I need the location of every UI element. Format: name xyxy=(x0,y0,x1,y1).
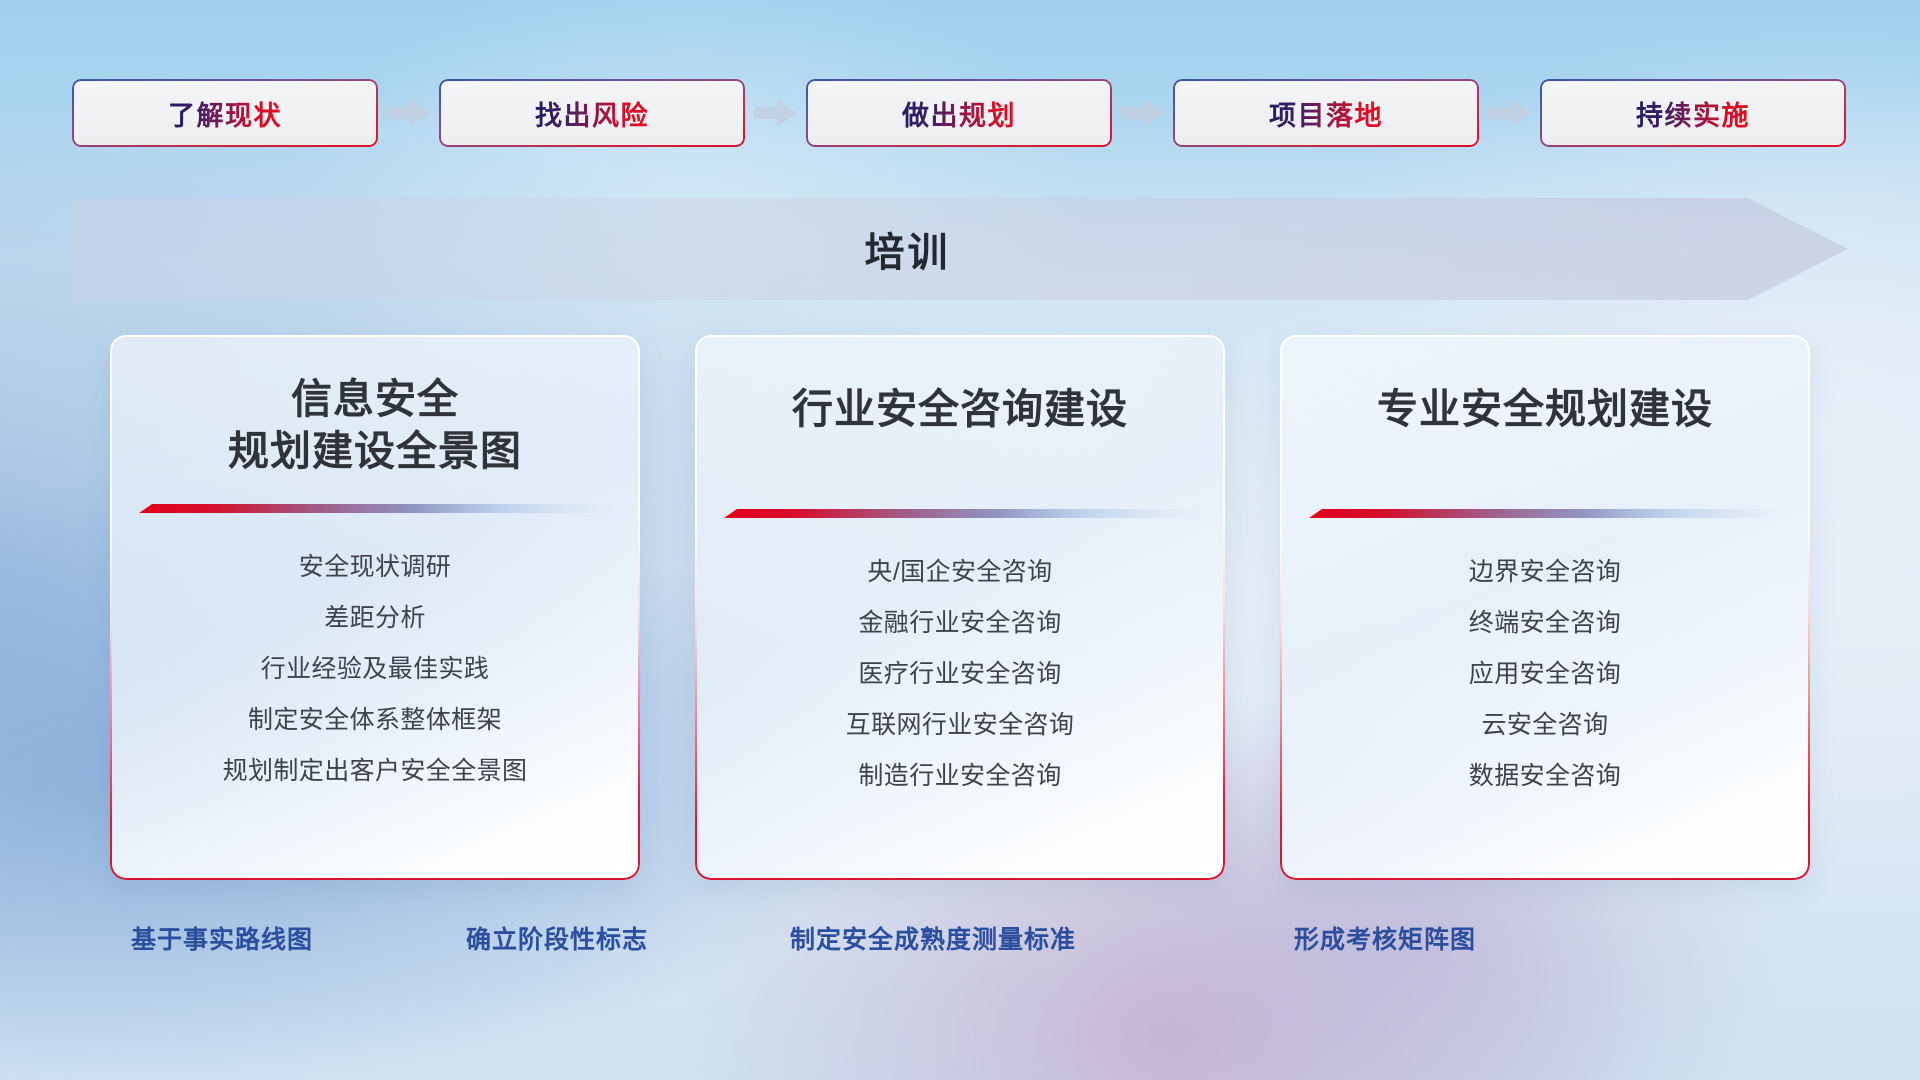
right-arrow-icon xyxy=(1479,93,1540,133)
card-information-security-blueprint[interactable]: 信息安全 规划建设全景图 xyxy=(110,335,640,880)
footer-caption-row: 基于事实路线图 确立阶段性标志 制定安全成熟度测量标准 形成考核矩阵图 xyxy=(0,920,1920,962)
list-item: 安全现状调研 xyxy=(136,555,614,580)
list-item: 制造行业安全咨询 xyxy=(721,764,1199,789)
step-wrap-1: 找出风险 xyxy=(439,79,806,147)
step-wrap-0: 了解现状 xyxy=(72,79,439,147)
process-step-flow: 了解现状 找出风险 做出规划 xyxy=(72,78,1848,148)
list-item: 应用安全咨询 xyxy=(1306,662,1784,687)
list-item: 央/国企安全咨询 xyxy=(721,560,1199,585)
card-industry-security-consulting[interactable]: 行业安全咨询建设 xyxy=(695,335,1225,880)
list-item: 制定安全体系整体框架 xyxy=(136,708,614,733)
right-arrow-icon xyxy=(745,93,806,133)
list-item: 差距分析 xyxy=(136,606,614,631)
card-item-list: 安全现状调研 差距分析 行业经验及最佳实践 制定安全体系整体框架 规划制定出客户… xyxy=(136,527,614,784)
list-item: 规划制定出客户安全全景图 xyxy=(136,759,614,784)
right-arrow-icon xyxy=(378,93,439,133)
card-title: 行业安全咨询建设 xyxy=(792,383,1128,435)
list-item: 数据安全咨询 xyxy=(1306,764,1784,789)
footer-label-maturity: 制定安全成熟度测量标准 xyxy=(790,920,1076,956)
banner-label: 培训 xyxy=(72,198,1848,300)
card-professional-security-planning[interactable]: 专业安全规划建设 xyxy=(1280,335,1810,880)
card-inner: 信息安全 规划建设全景图 xyxy=(110,335,640,880)
step-box-find-risk[interactable]: 找出风险 xyxy=(439,79,745,147)
footer-label-roadmap: 基于事实路线图 xyxy=(131,920,313,956)
list-item: 云安全咨询 xyxy=(1306,713,1784,738)
step-wrap-3: 项目落地 xyxy=(1173,79,1540,147)
step-box-continuous-implementation[interactable]: 持续实施 xyxy=(1540,79,1846,147)
step-label: 项目落地 xyxy=(1269,94,1383,133)
step-label: 找出风险 xyxy=(535,94,649,133)
training-banner: 培训 xyxy=(72,198,1848,300)
step-box-project-landing[interactable]: 项目落地 xyxy=(1173,79,1479,147)
step-label: 持续实施 xyxy=(1636,94,1750,133)
list-item: 互联网行业安全咨询 xyxy=(721,713,1199,738)
step-box-understand-status[interactable]: 了解现状 xyxy=(72,79,378,147)
list-item: 行业经验及最佳实践 xyxy=(136,657,614,682)
card-title: 信息安全 规划建设全景图 xyxy=(228,373,522,478)
list-item: 边界安全咨询 xyxy=(1306,560,1784,585)
card-item-list: 央/国企安全咨询 金融行业安全咨询 医疗行业安全咨询 互联网行业安全咨询 制造行… xyxy=(721,532,1199,789)
card-divider xyxy=(1306,509,1784,522)
card-inner: 专业安全规划建设 xyxy=(1280,335,1810,880)
step-label: 了解现状 xyxy=(168,94,282,133)
step-box-make-plan[interactable]: 做出规划 xyxy=(806,79,1112,147)
card-divider xyxy=(721,509,1199,522)
cards-row: 信息安全 规划建设全景图 xyxy=(110,335,1810,880)
slide-canvas: 了解现状 找出风险 做出规划 xyxy=(0,0,1920,1080)
right-arrow-icon xyxy=(1112,93,1173,133)
step-wrap-4: 持续实施 xyxy=(1540,79,1846,147)
footer-label-milestone: 确立阶段性标志 xyxy=(466,920,648,956)
list-item: 医疗行业安全咨询 xyxy=(721,662,1199,687)
card-item-list: 边界安全咨询 终端安全咨询 应用安全咨询 云安全咨询 数据安全咨询 xyxy=(1306,532,1784,789)
step-label: 做出规划 xyxy=(902,94,1016,133)
card-divider xyxy=(136,504,614,517)
card-title: 专业安全规划建设 xyxy=(1377,383,1713,435)
step-wrap-2: 做出规划 xyxy=(806,79,1173,147)
list-item: 终端安全咨询 xyxy=(1306,611,1784,636)
card-inner: 行业安全咨询建设 xyxy=(695,335,1225,880)
list-item: 金融行业安全咨询 xyxy=(721,611,1199,636)
footer-label-matrix: 形成考核矩阵图 xyxy=(1294,920,1476,956)
